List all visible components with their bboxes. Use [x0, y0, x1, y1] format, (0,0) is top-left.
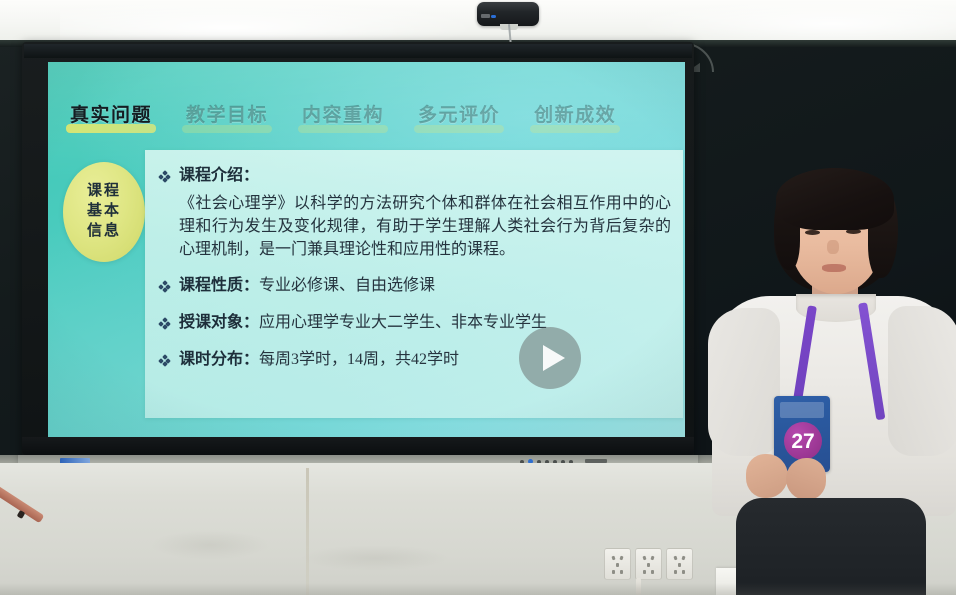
four-diamond-bullet-icon: [159, 318, 170, 329]
hair-front: [776, 168, 894, 230]
course-basic-info-badge: 课程 基本 信息: [63, 162, 145, 262]
camera-led-icon: [491, 15, 496, 18]
course-intro-heading: 课程介绍：: [179, 164, 259, 188]
course-intro-block: 课程介绍： 《社会心理学》以科学的方法研究个体和群体在社会相互作用中的心理和行为…: [159, 164, 671, 261]
badge-line-3: 信息: [87, 222, 121, 242]
camera-brand-mark: [481, 14, 490, 18]
nav-item-innovation-result[interactable]: 创新成效: [530, 100, 620, 133]
nav-underline: [530, 125, 620, 133]
mouth: [822, 264, 846, 272]
course-hours-value: 每周3学时，14周，共42学时: [259, 348, 459, 372]
id-badge-number-circle: 27: [784, 422, 822, 460]
display-bezel-top: [24, 44, 692, 58]
nav-underline: [298, 125, 388, 133]
nav-label: 多元评价: [418, 100, 500, 127]
wall-panel-seam: [306, 468, 309, 595]
hand-right: [786, 458, 826, 500]
id-badge-header: [780, 402, 824, 418]
course-intro-paragraph: 《社会心理学》以科学的方法研究个体和群体在社会相互作用中的心理和行为发生及变化规…: [179, 192, 671, 261]
badge-line-1: 课程: [87, 182, 121, 202]
wall-prop-bracket: [0, 483, 60, 549]
nav-underline: [182, 125, 272, 133]
course-nature-value: 专业必修课、自由选修课: [259, 274, 435, 298]
course-audience-value: 应用心理学专业大二学生、非本专业学生: [259, 311, 547, 335]
nav-underline-active: [66, 124, 156, 133]
slide-nav: 真实问题 教学目标 内容重构 多元评价 创新成效: [48, 100, 685, 133]
teacher-figure: 27: [712, 168, 956, 595]
slide-screen[interactable]: 真实问题 教学目标 内容重构 多元评价 创新成效 课程 基本 信息: [48, 62, 685, 437]
eye-left: [805, 230, 820, 235]
power-outlet-group[interactable]: [604, 548, 693, 580]
course-nature-row: 课程性质： 专业必修课、自由选修课: [159, 274, 671, 298]
course-hours-row: 课时分布： 每周3学时，14周，共42学时: [159, 348, 671, 372]
nav-label: 真实问题: [70, 100, 152, 127]
floor-shadow: [0, 583, 956, 595]
nav-label: 教学目标: [186, 100, 268, 127]
four-diamond-bullet-icon: [159, 281, 170, 292]
sleeve-right: [888, 306, 956, 456]
course-hours-heading: 课时分布：: [179, 348, 259, 372]
camera-soundbar-icon: [477, 2, 539, 26]
nose: [827, 240, 839, 254]
course-nature-heading: 课程性质：: [179, 274, 259, 298]
four-diamond-bullet-icon: [159, 171, 170, 182]
hand-left: [746, 454, 788, 498]
badge-line-2: 基本: [87, 202, 121, 222]
four-diamond-bullet-icon: [159, 355, 170, 366]
power-outlet-icon[interactable]: [604, 548, 631, 580]
sleeve-left: [708, 308, 780, 456]
nav-item-content-restructure[interactable]: 内容重构: [298, 100, 388, 133]
course-audience-heading: 授课对象：: [179, 311, 259, 335]
course-intro-heading-row: 课程介绍：: [159, 164, 671, 188]
nav-item-teaching-goal[interactable]: 教学目标: [182, 100, 272, 133]
play-triangle-icon: [543, 345, 565, 371]
nav-underline: [414, 125, 504, 133]
display-bezel-bottom: [22, 437, 694, 455]
nav-item-multi-evaluation[interactable]: 多元评价: [414, 100, 504, 133]
slide-content-panel: 课程介绍： 《社会心理学》以科学的方法研究个体和群体在社会相互作用中的心理和行为…: [145, 150, 683, 418]
id-badge-number: 27: [791, 431, 814, 452]
power-outlet-icon[interactable]: [635, 548, 662, 580]
wall-smudge-1: [150, 530, 270, 560]
nav-label: 内容重构: [302, 100, 384, 127]
wall-smudge-2: [300, 545, 450, 571]
power-outlet-icon[interactable]: [666, 548, 693, 580]
course-audience-row: 授课对象： 应用心理学专业大二学生、非本专业学生: [159, 311, 671, 335]
trousers: [736, 498, 926, 595]
play-button[interactable]: [519, 327, 581, 389]
nav-label: 创新成效: [534, 100, 616, 127]
nav-item-real-problem[interactable]: 真实问题: [66, 100, 156, 133]
video-frame: 真实问题 教学目标 内容重构 多元评价 创新成效 课程 基本 信息: [0, 0, 956, 595]
